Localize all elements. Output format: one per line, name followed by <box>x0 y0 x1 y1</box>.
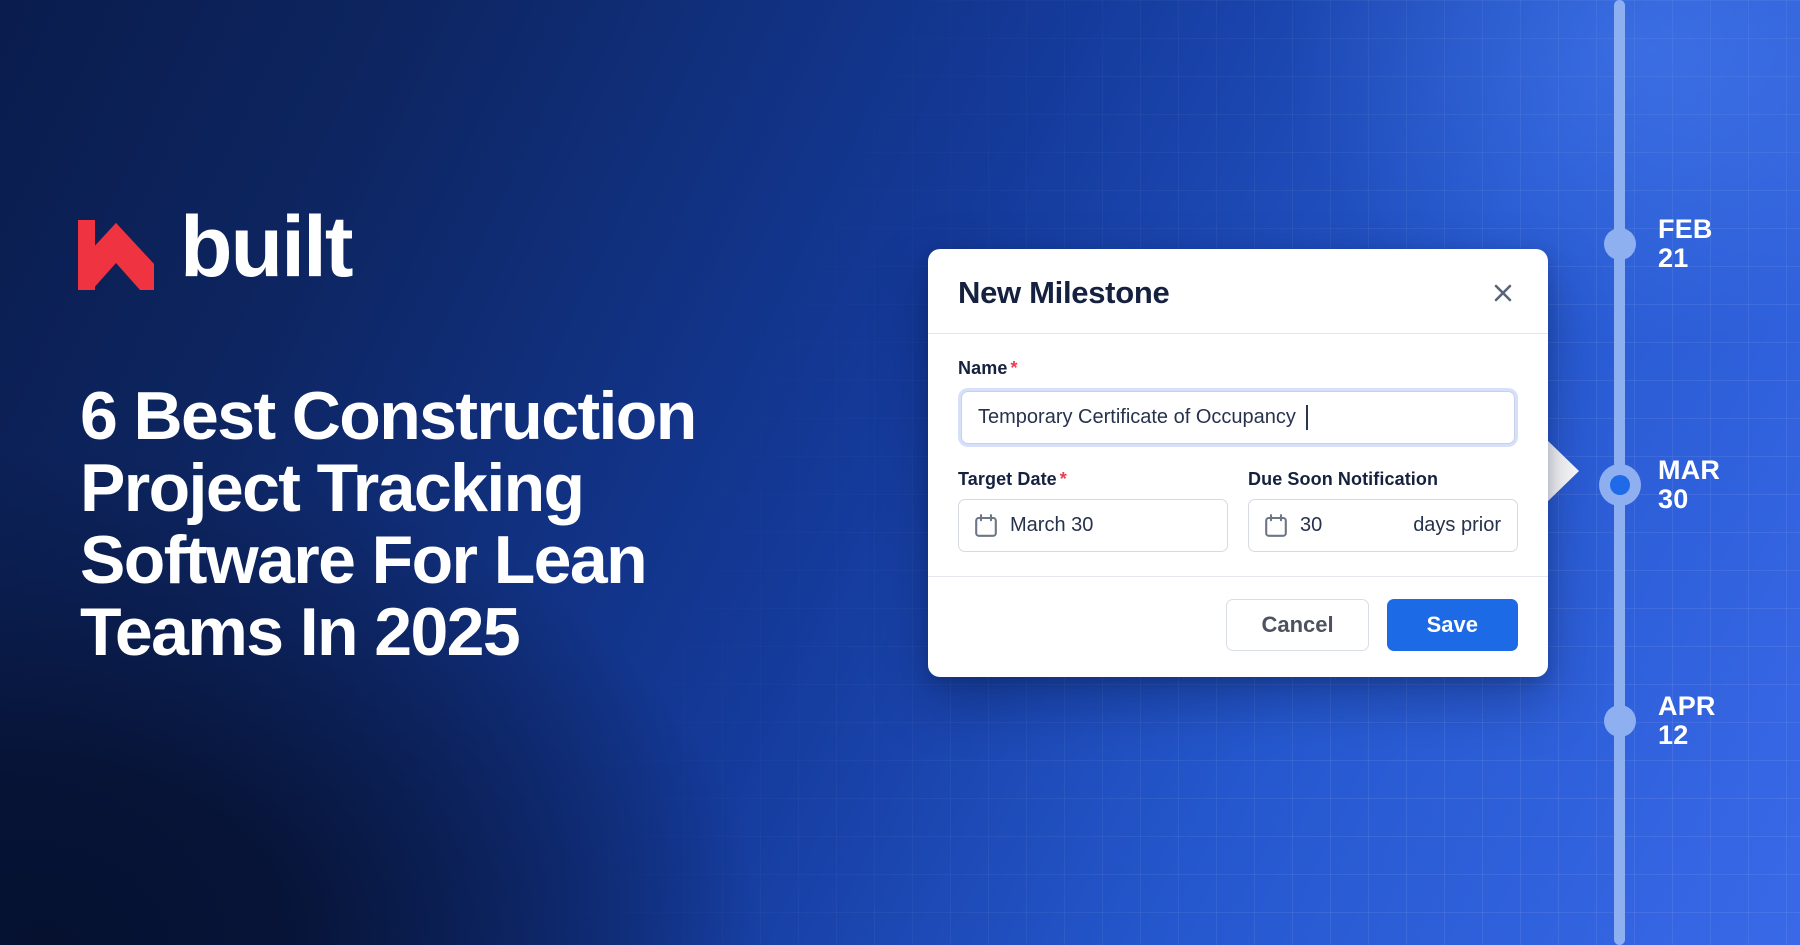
headline-line-4: Teams In 2025 <box>80 596 870 668</box>
dialog-body: Name* Temporary Certificate of Occupancy… <box>928 334 1548 576</box>
page-headline: 6 Best Construction Project Tracking Sof… <box>80 380 870 668</box>
timeline-month-apr: APR <box>1658 691 1716 721</box>
timeline-label-apr: APR 12 <box>1658 692 1716 750</box>
due-soon-value: 30 <box>1300 514 1322 537</box>
timeline-day-mar: 30 <box>1658 485 1720 514</box>
headline-line-1: 6 Best Construction <box>80 380 870 452</box>
dialog-header: New Milestone <box>928 249 1548 334</box>
save-button[interactable]: Save <box>1387 599 1518 651</box>
target-date-input[interactable]: March 30 <box>958 499 1228 552</box>
timeline-dot-outer <box>1604 228 1636 260</box>
name-field-group: Name* Temporary Certificate of Occupancy <box>958 358 1518 447</box>
target-date-value: March 30 <box>1010 514 1093 537</box>
target-date-label: Target Date* <box>958 469 1228 490</box>
name-required-asterisk: * <box>1010 358 1017 378</box>
name-input[interactable]: Temporary Certificate of Occupancy <box>961 391 1515 444</box>
brand-wordmark: built <box>180 209 352 286</box>
timeline-node-apr[interactable]: APR 12 <box>1604 692 1716 750</box>
timeline-label-mar: MAR 30 <box>1658 456 1720 514</box>
due-soon-suffix-label: days prior <box>1413 514 1501 537</box>
timeline-label-feb: FEB 21 <box>1658 215 1713 273</box>
calendar-icon <box>1265 514 1287 537</box>
target-date-label-text: Target Date <box>958 469 1057 489</box>
timeline-day-apr: 12 <box>1658 721 1716 750</box>
headline-line-3: Software For Lean <box>80 524 870 596</box>
timeline-dot-mar <box>1604 469 1636 501</box>
timeline-day-feb: 21 <box>1658 244 1713 273</box>
close-icon[interactable] <box>1488 278 1518 308</box>
name-input-value: Temporary Certificate of Occupancy <box>978 406 1296 429</box>
new-milestone-dialog: New Milestone Name* Temporary Certificat… <box>928 249 1548 677</box>
due-soon-field-group: Due Soon Notification 30 days prior <box>1248 469 1518 552</box>
brand-logo: built <box>78 206 352 290</box>
milestone-timeline: FEB 21 MAR 30 APR 12 <box>1604 0 1800 945</box>
due-soon-label: Due Soon Notification <box>1248 469 1518 490</box>
timeline-month-feb: FEB <box>1658 214 1713 244</box>
timeline-node-feb[interactable]: FEB 21 <box>1604 215 1713 273</box>
headline-line-2: Project Tracking <box>80 452 870 524</box>
date-fields-row: Target Date* March 30 Due Soon Notificat… <box>958 469 1518 552</box>
name-field-label: Name* <box>958 358 1518 379</box>
target-date-required-asterisk: * <box>1060 469 1067 489</box>
dialog-footer: Cancel Save <box>928 576 1548 677</box>
built-chevron-logo-icon <box>78 206 154 290</box>
modal-pointer-arrow <box>1545 438 1579 504</box>
cancel-button[interactable]: Cancel <box>1226 599 1368 651</box>
target-date-field-group: Target Date* March 30 <box>958 469 1228 552</box>
timeline-dot-outer <box>1604 705 1636 737</box>
timeline-dot-feb <box>1604 228 1636 260</box>
name-label-text: Name <box>958 358 1007 378</box>
timeline-dot-apr <box>1604 705 1636 737</box>
text-caret <box>1306 405 1308 430</box>
name-input-focus-ring: Temporary Certificate of Occupancy <box>958 388 1518 447</box>
dialog-title: New Milestone <box>958 275 1169 311</box>
calendar-icon <box>975 514 997 537</box>
timeline-month-mar: MAR <box>1658 455 1720 485</box>
timeline-node-mar[interactable]: MAR 30 <box>1604 456 1720 514</box>
due-soon-input[interactable]: 30 days prior <box>1248 499 1518 552</box>
